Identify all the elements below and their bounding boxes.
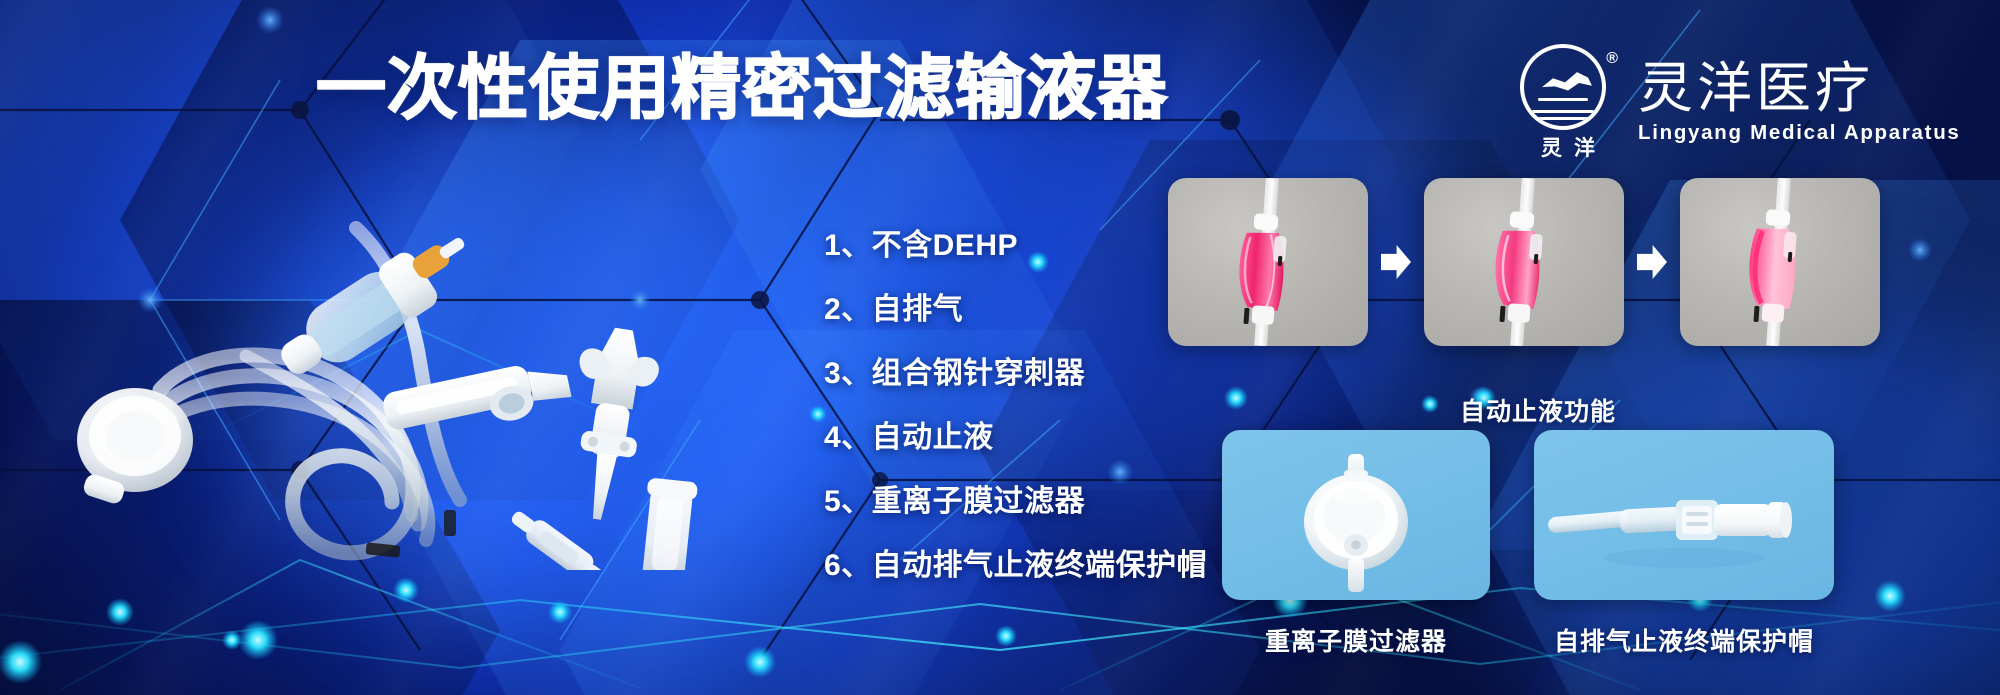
brand-name-cn: 灵洋医疗 <box>1638 58 1961 118</box>
list-item: 6、自动排气止液终端保护帽 <box>824 546 1207 586</box>
list-item: 5、重离子膜过滤器 <box>824 482 1207 522</box>
filter-disc <box>77 388 193 506</box>
list-item: 2、自排气 <box>824 290 1207 330</box>
registered-trademark-icon: ® <box>1606 50 1618 68</box>
logo-emblem-label: 灵洋 <box>1520 132 1616 162</box>
sequence-caption: 自动止液功能 <box>1460 392 1616 428</box>
brand-logo: ® 灵洋 灵洋医疗 Lingyang Medical Apparatus <box>1520 44 1961 160</box>
brand-name-en: Lingyang Medical Apparatus <box>1638 120 1961 146</box>
infusion-set-product-photo <box>40 150 760 570</box>
detail-panel-end-cap[interactable] <box>1534 430 1834 600</box>
auto-stop-sequence <box>1168 178 1880 346</box>
sequence-frame-2[interactable] <box>1424 178 1624 346</box>
logo-emblem-label-left: 灵 <box>1541 137 1574 160</box>
arrow-right-icon <box>1637 245 1667 279</box>
sequence-frame-1[interactable] <box>1168 178 1368 346</box>
feature-list: 1、不含DEHP 2、自排气 3、组合钢针穿刺器 4、自动止液 5、重离子膜过滤… <box>824 226 1207 586</box>
promo-banner: 一次性使用精密过滤输液器 ® 灵洋 灵洋医疗 Lingyang Medical … <box>0 0 2000 695</box>
detail-panel-filter[interactable] <box>1222 430 1490 600</box>
wave-bird-icon <box>1542 66 1592 100</box>
detail-caption-end-cap: 自排气止液终端保护帽 <box>1534 622 1834 658</box>
detail-panel-row <box>1222 430 1834 600</box>
list-item: 4、自动止液 <box>824 418 1207 458</box>
logo-emblem-label-right: 洋 <box>1574 137 1607 160</box>
sequence-arrow-2 <box>1624 245 1680 279</box>
detail-caption-row: 重离子膜过滤器 自排气止液终端保护帽 <box>1222 622 1842 658</box>
arrow-right-icon <box>1381 245 1411 279</box>
wave-line-icon <box>1532 110 1594 113</box>
sequence-arrow-1 <box>1368 245 1424 279</box>
logo-wordmark: 灵洋医疗 Lingyang Medical Apparatus <box>1638 58 1961 146</box>
logo-circle-icon <box>1520 44 1606 130</box>
list-item: 1、不含DEHP <box>824 226 1207 266</box>
wave-line-icon <box>1538 98 1588 101</box>
logo-emblem: ® 灵洋 <box>1520 44 1616 160</box>
list-item: 3、组合钢针穿刺器 <box>824 354 1207 394</box>
sequence-frame-3[interactable] <box>1680 178 1880 346</box>
detail-caption-filter: 重离子膜过滤器 <box>1222 622 1490 658</box>
page-title: 一次性使用精密过滤输液器 <box>316 48 1168 128</box>
